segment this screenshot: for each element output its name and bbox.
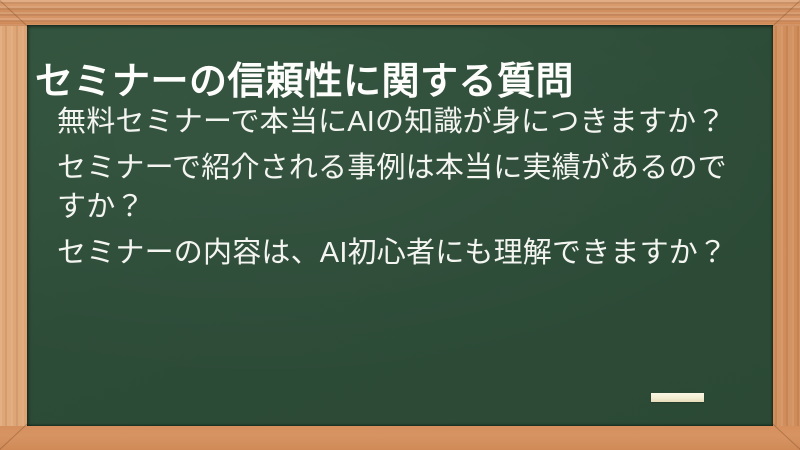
chalkboard: セミナーの信頼性に関する質問 無料セミナーで本当にAIの知識が身につきますか？ … bbox=[27, 25, 773, 426]
slide-canvas: セミナーの信頼性に関する質問 無料セミナーで本当にAIの知識が身につきますか？ … bbox=[0, 0, 800, 450]
frame-bottom-ledge bbox=[0, 426, 800, 450]
question-item: セミナーの内容は、AI初心者にも理解できますか？ bbox=[57, 234, 749, 273]
slide-title: セミナーの信頼性に関する質問 bbox=[35, 56, 751, 108]
chalk-stick-icon bbox=[651, 393, 704, 402]
frame-top-rail bbox=[0, 0, 800, 26]
question-list: 無料セミナーで本当にAIの知識が身につきますか？ セミナーで紹介される事例は本当… bbox=[57, 103, 749, 280]
question-item: セミナーで紹介される事例は本当に実績があるのですか？ bbox=[57, 149, 749, 227]
question-item: 無料セミナーで本当にAIの知識が身につきますか？ bbox=[57, 103, 749, 142]
